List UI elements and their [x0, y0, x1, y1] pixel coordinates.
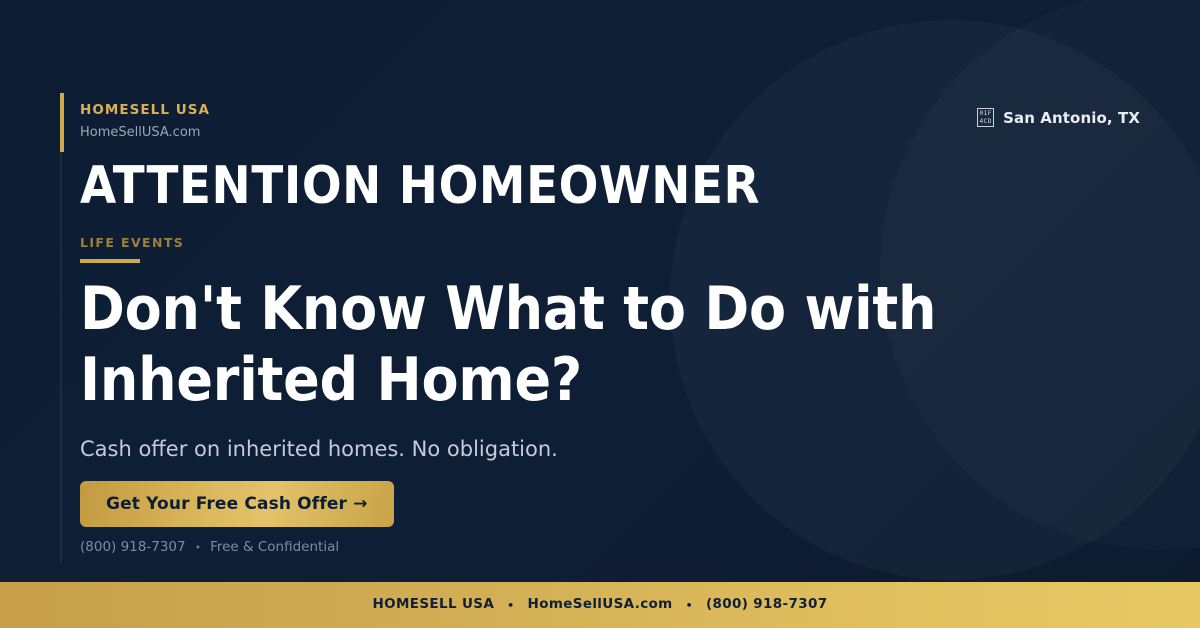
brand-row: HOMESELL USA HomeSellUSA.com 01F 4CD San…: [80, 104, 1140, 150]
trust-phone-number[interactable]: (800) 918-7307: [80, 541, 186, 555]
advertisement-banner: HOMESELL USA HomeSellUSA.com 01F 4CD San…: [0, 0, 1200, 628]
footer-separator-dot-1: •: [507, 600, 514, 611]
footer-phone-number[interactable]: (800) 918-7307: [706, 598, 827, 612]
footer-separator-dot-2: •: [686, 600, 693, 611]
subheadline: Cash offer on inherited homes. No obliga…: [80, 436, 558, 463]
left-rail-gold-accent: [60, 93, 64, 152]
location-pin-icon: 01F 4CD: [977, 108, 994, 127]
trust-line: (800) 918-7307 • Free & Confidential: [80, 541, 339, 555]
left-rail-divider: [60, 93, 62, 563]
footer-url[interactable]: HomeSellUSA.com: [528, 598, 673, 612]
content-area: HOMESELL USA HomeSellUSA.com 01F 4CD San…: [80, 0, 1140, 582]
eyebrow-underline: [80, 259, 140, 263]
trust-note: Free & Confidential: [210, 541, 339, 555]
location-pin-icon-codepoint-low: 4CD: [979, 118, 991, 126]
brand-url: HomeSellUSA.com: [80, 126, 1140, 139]
get-free-cash-offer-button[interactable]: Get Your Free Cash Offer →: [80, 481, 394, 527]
page-title: Don't Know What to Do with Inherited Hom…: [80, 274, 980, 416]
eyebrow-group: LIFE EVENTS: [80, 237, 184, 263]
location-badge: 01F 4CD San Antonio, TX: [977, 108, 1140, 127]
footer-brand-name: HOMESELL USA: [373, 598, 495, 612]
location-label: San Antonio, TX: [1003, 109, 1140, 127]
footer-bar: HOMESELL USA • HomeSellUSA.com • (800) 9…: [0, 582, 1200, 628]
attention-kicker: ATTENTION HOMEOWNER: [80, 160, 760, 212]
trust-separator-dot: •: [195, 542, 202, 553]
eyebrow-label: LIFE EVENTS: [80, 237, 184, 250]
